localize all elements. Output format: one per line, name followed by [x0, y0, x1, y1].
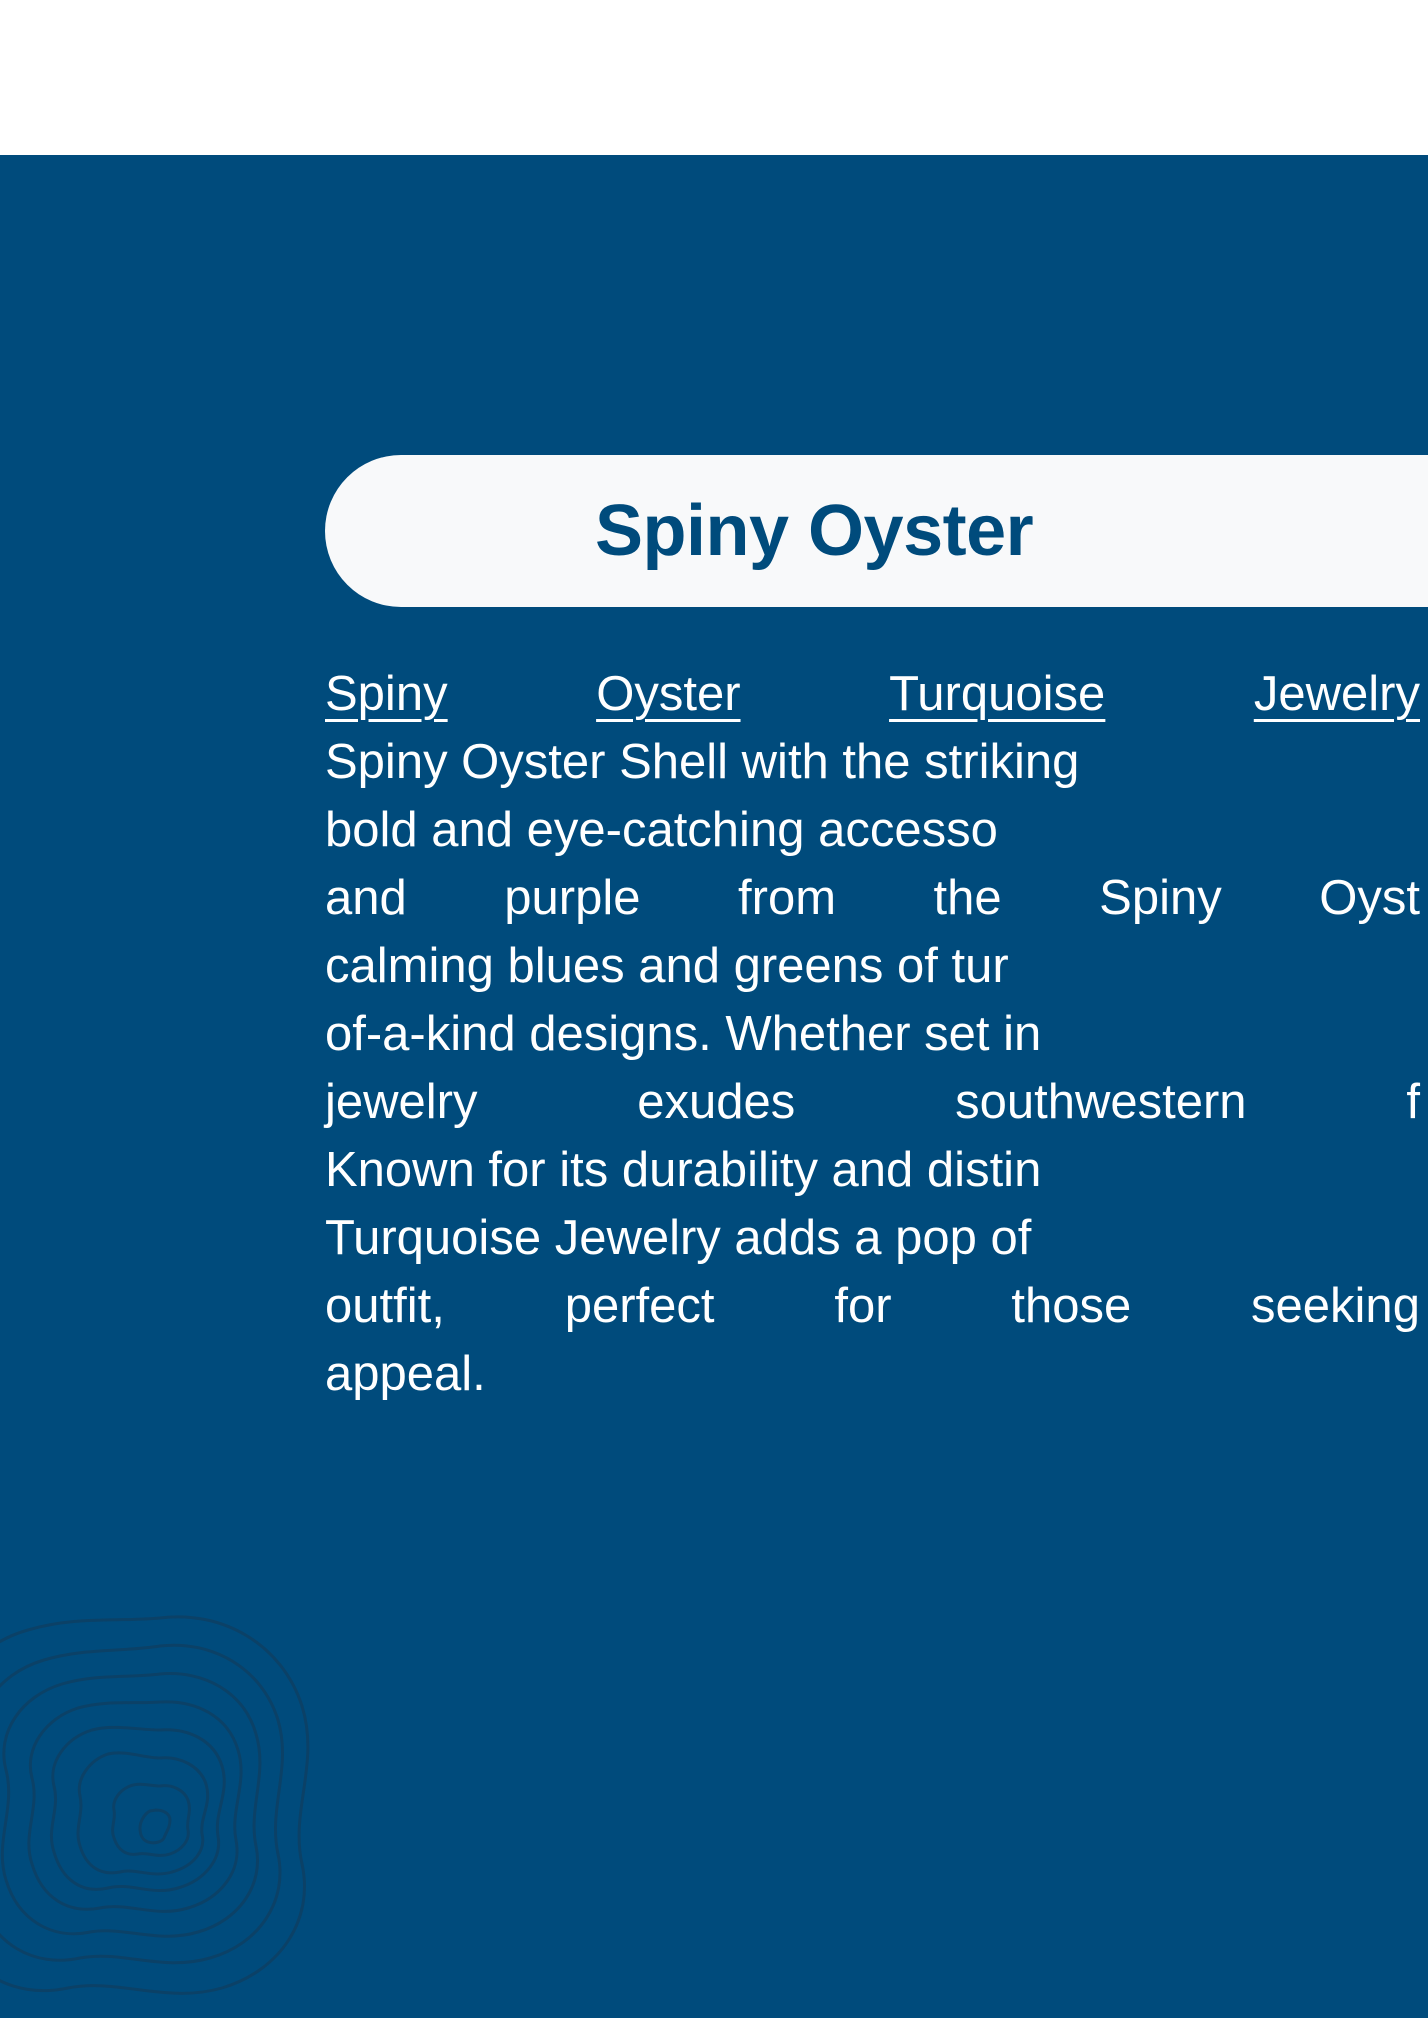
body-word: exudes — [637, 1068, 795, 1136]
body-word: outfit, — [325, 1272, 445, 1340]
body-word: southwestern — [955, 1068, 1246, 1136]
heading-word: Turquoise — [889, 660, 1105, 728]
page-title: Spiny Oyster — [595, 495, 1033, 567]
body-word: for — [834, 1272, 891, 1340]
topographic-contour-icon — [0, 1458, 470, 2018]
title-pill-banner: Spiny Oyster — [325, 455, 1428, 607]
body-word: f — [1406, 1068, 1420, 1136]
body-word: perfect — [565, 1272, 715, 1340]
body-line: Turquoise Jewelry adds a pop of — [325, 1204, 1428, 1272]
body-word: the — [934, 864, 1002, 932]
body-line: Spiny Oyster Shell with the striking — [325, 728, 1428, 796]
body-word: those — [1011, 1272, 1131, 1340]
body-line: of-a-kind designs. Whether set in — [325, 1000, 1428, 1068]
body-line: bold and eye-catching accesso — [325, 796, 1428, 864]
heading-word: Spiny — [325, 660, 448, 728]
body-line: appeal. — [325, 1340, 1428, 1408]
blue-content-panel: Spiny Oyster Spiny Oyster Turquoise Jewe… — [0, 155, 1428, 2018]
body-line: and purple from the Spiny Oyst — [325, 864, 1420, 932]
body-word: from — [738, 864, 836, 932]
poster-page: Spiny Oyster Spiny Oyster Turquoise Jewe… — [0, 0, 1428, 2018]
body-word: purple — [504, 864, 640, 932]
heading-word: Oyster — [596, 660, 740, 728]
body-line: calming blues and greens of tur — [325, 932, 1428, 1000]
heading-word: Jewelry — [1254, 660, 1420, 728]
body-word: seeking — [1251, 1272, 1420, 1340]
body-line: Known for its durability and distin — [325, 1136, 1428, 1204]
body-heading-line: Spiny Oyster Turquoise Jewelry — [325, 660, 1420, 728]
body-word: Oyst — [1319, 864, 1420, 932]
body-word: and — [325, 864, 407, 932]
body-line: outfit, perfect for those seeking — [325, 1272, 1420, 1340]
body-line: jewelry exudes southwestern f — [325, 1068, 1420, 1136]
body-copy-block: Spiny Oyster Turquoise Jewelry Spiny Oys… — [325, 660, 1428, 1408]
body-word: Spiny — [1099, 864, 1222, 932]
body-word: jewelry — [325, 1068, 477, 1136]
